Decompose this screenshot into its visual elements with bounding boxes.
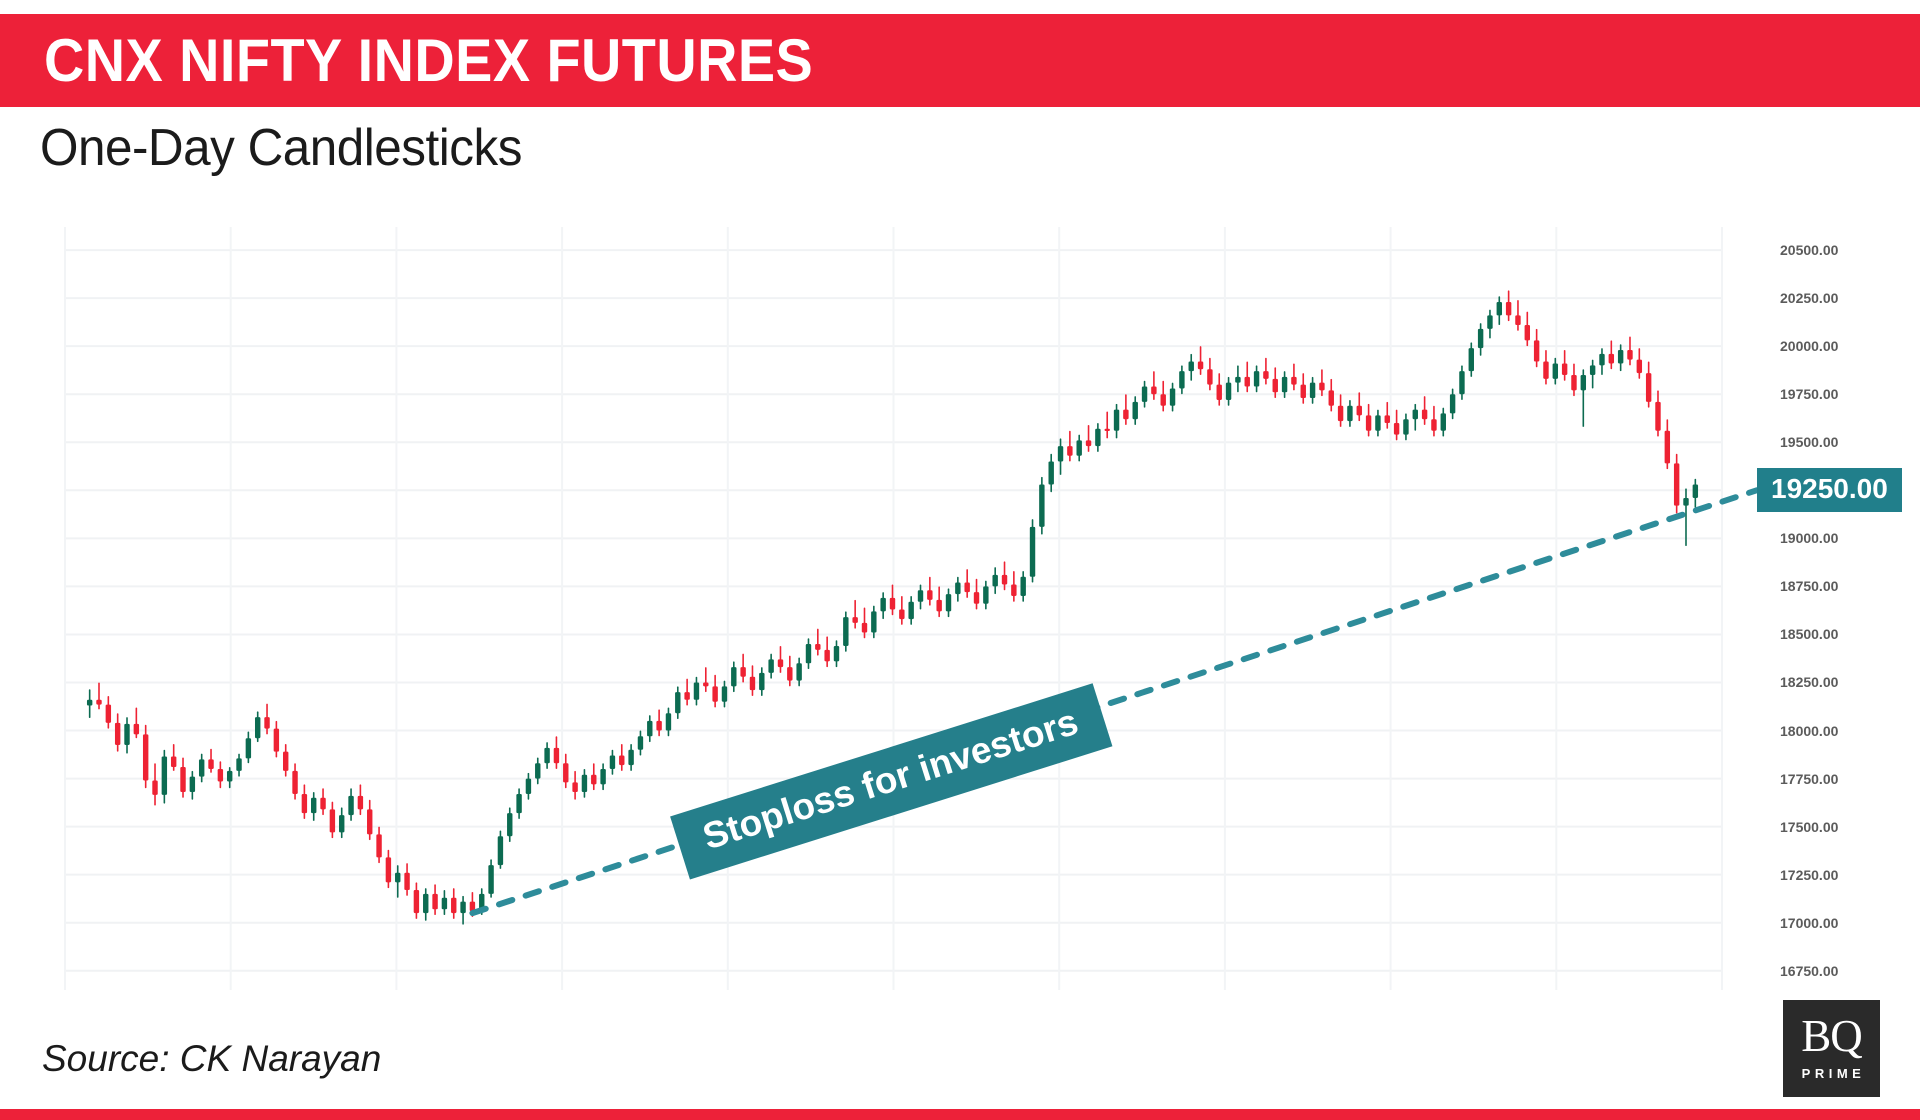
- candle-series: [87, 290, 1698, 924]
- chart-subtitle: One-Day Candlesticks: [40, 118, 522, 178]
- footer-bar: [0, 1109, 1920, 1120]
- trendline-stoploss: [472, 490, 1756, 913]
- chart-canvas: [0, 215, 1920, 1005]
- infographic-page: CNX NIFTY INDEX FUTURES One-Day Candlest…: [0, 0, 1920, 1120]
- bq-prime-logo: BQ PRIME: [1783, 1000, 1880, 1097]
- source-credit: Source: CK Narayan: [42, 1038, 381, 1080]
- logo-primary-text: BQ: [1801, 1016, 1862, 1057]
- logo-secondary-text: PRIME: [1802, 1066, 1866, 1081]
- page-title: CNX NIFTY INDEX FUTURES: [44, 26, 813, 95]
- header-bar: CNX NIFTY INDEX FUTURES: [0, 14, 1920, 107]
- candlestick-chart: [0, 215, 1920, 1005]
- price-badge: 19250.00: [1757, 468, 1902, 512]
